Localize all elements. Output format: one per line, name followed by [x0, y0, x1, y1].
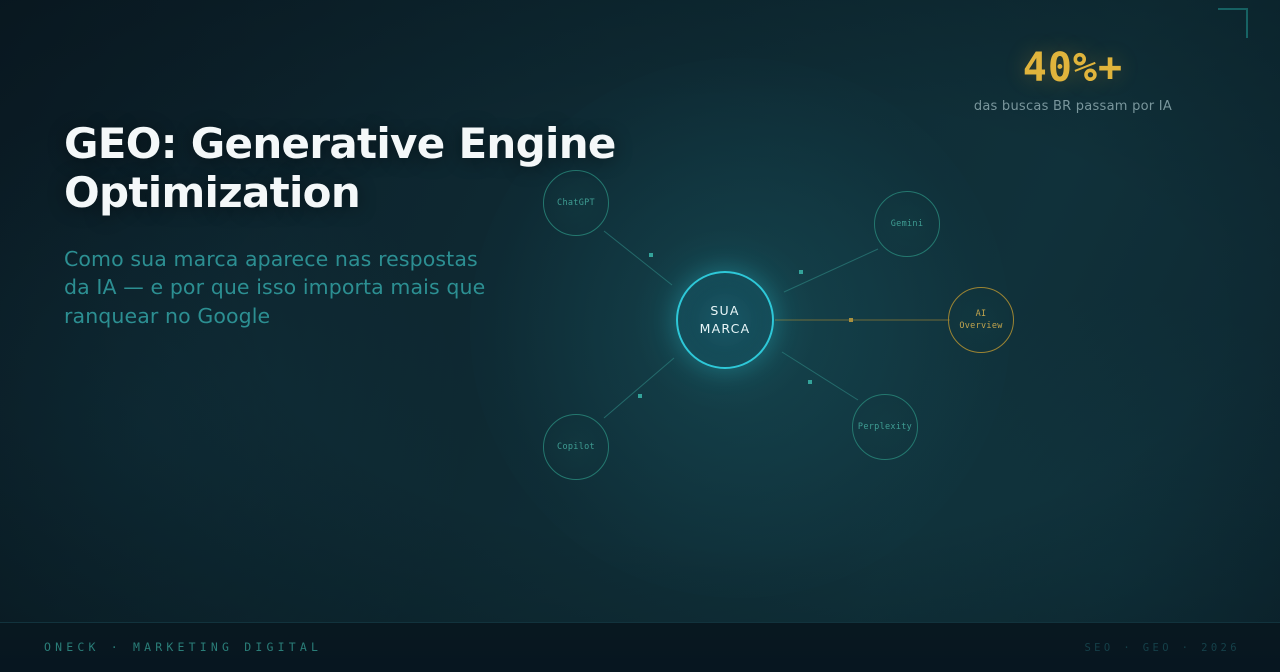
connector-pulse-dot-gold — [849, 318, 853, 322]
node-copilot-label: Copilot — [557, 442, 595, 452]
node-sua-marca-line1: SUA — [710, 302, 739, 320]
node-ai-overview-label-line2: Overview — [959, 320, 1002, 332]
node-ai-overview-label-line1: AI — [976, 308, 987, 320]
page-subtitle: Como sua marca aparece nas respostas da … — [64, 245, 494, 330]
stat-block: 40%+ das buscas BR passam por IA — [974, 48, 1172, 114]
footer-meta: SEO · GEO · 2026 — [1084, 642, 1240, 654]
node-ai-overview[interactable]: AI Overview — [948, 287, 1014, 353]
footer-brand: ONECK · MARKETING DIGITAL — [44, 640, 322, 654]
stat-label: das buscas BR passam por IA — [974, 99, 1172, 114]
node-copilot[interactable]: Copilot — [543, 414, 609, 480]
node-sua-marca[interactable]: SUA MARCA — [676, 271, 774, 369]
node-sua-marca-line2: MARCA — [700, 320, 751, 338]
node-perplexity-label: Perplexity — [858, 422, 912, 432]
node-gemini[interactable]: Gemini — [874, 191, 940, 257]
page-title: GEO: Generative Engine Optimization — [64, 119, 664, 217]
node-perplexity[interactable]: Perplexity — [852, 394, 918, 460]
slide-canvas: ChatGPT Gemini AI Overview Perplexity Co… — [0, 0, 1280, 672]
stat-value: 40%+ — [974, 48, 1172, 88]
node-gemini-label: Gemini — [891, 219, 924, 229]
